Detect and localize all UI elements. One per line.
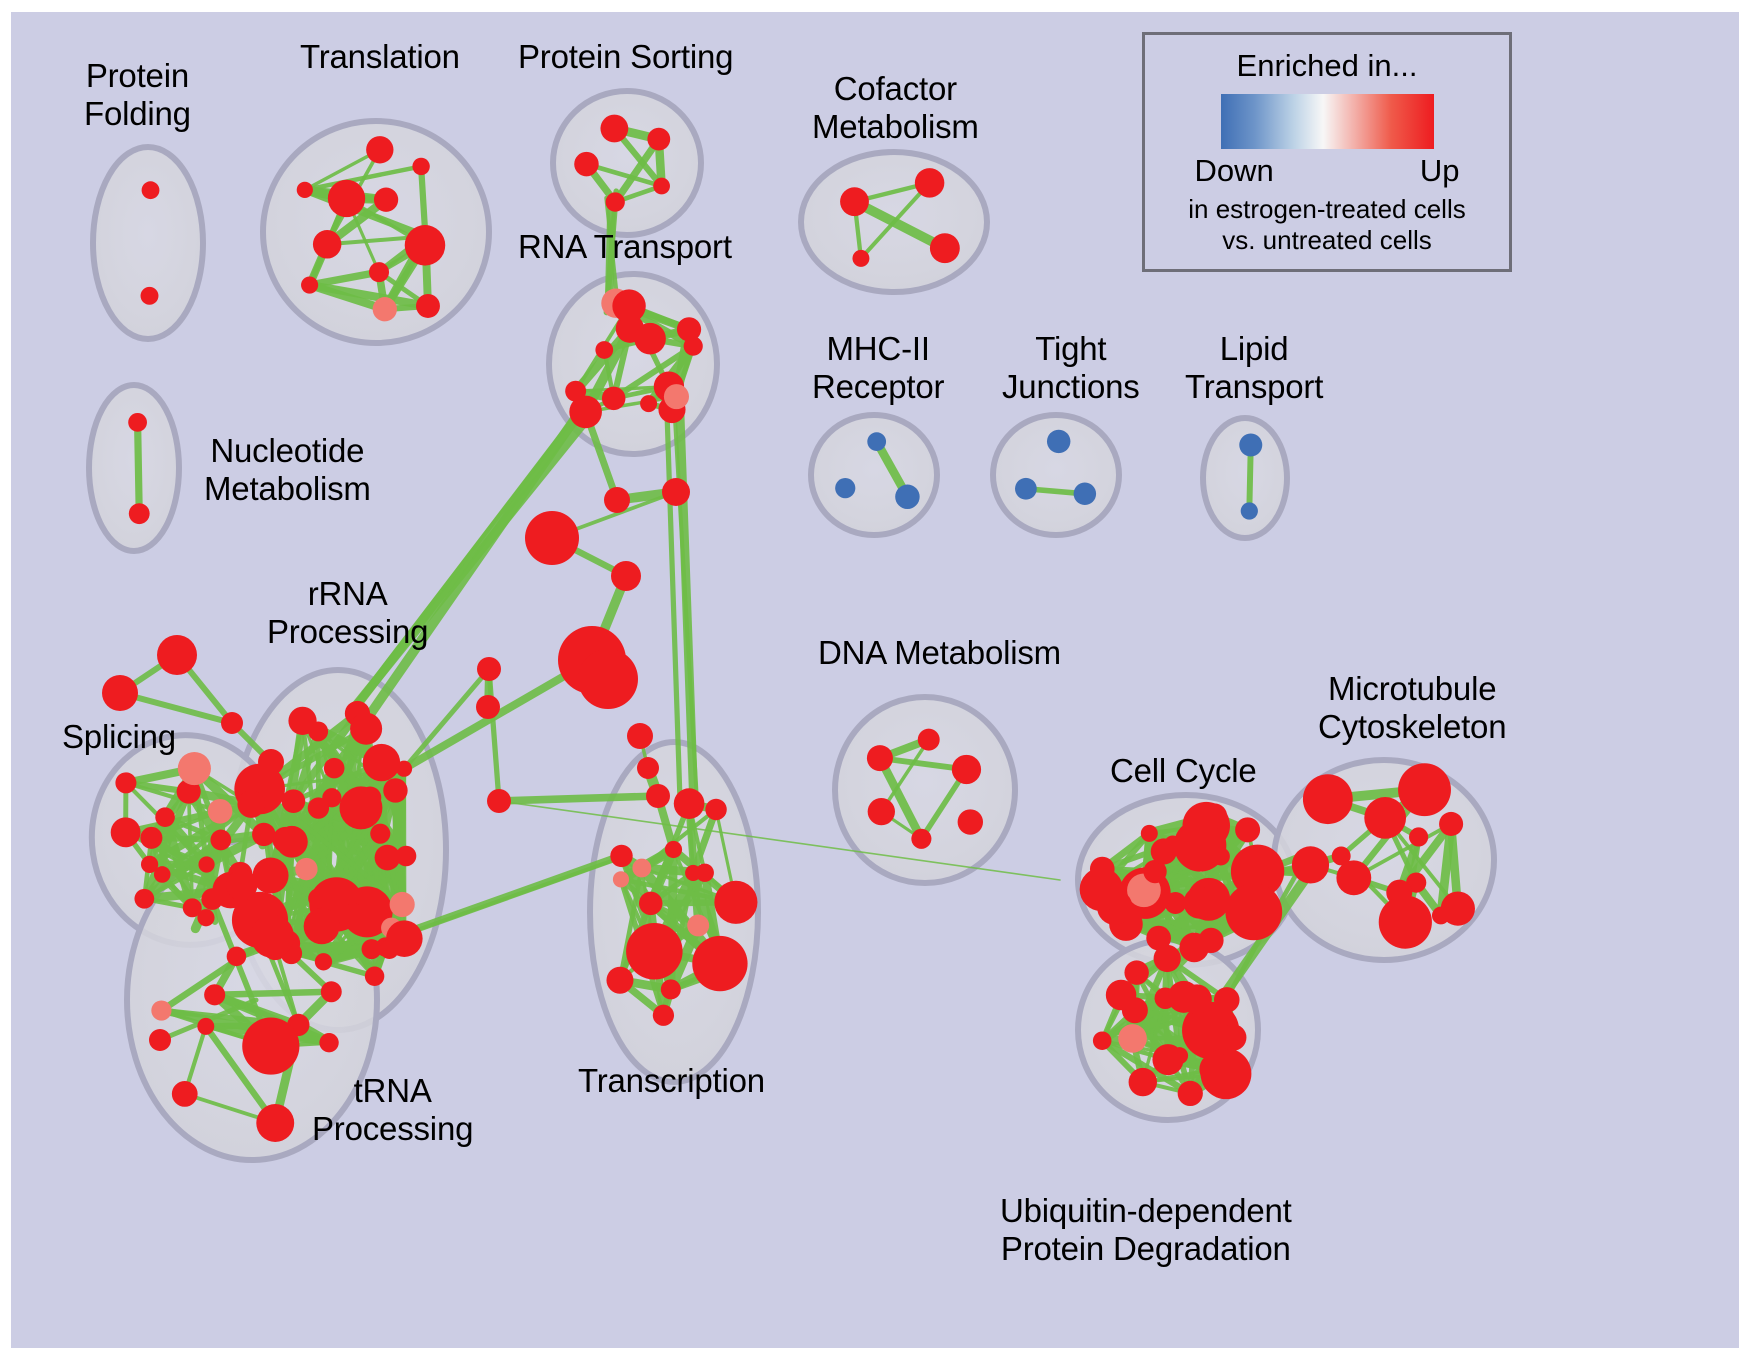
- network-node[interactable]: [308, 888, 328, 908]
- network-node[interactable]: [613, 871, 629, 887]
- cluster-label-tight-junctions: Tight Junctions: [1002, 330, 1140, 406]
- network-node[interactable]: [345, 903, 361, 919]
- network-node[interactable]: [366, 136, 393, 163]
- network-node[interactable]: [1432, 907, 1450, 925]
- network-node[interactable]: [141, 856, 158, 873]
- network-node[interactable]: [1214, 987, 1240, 1013]
- network-node[interactable]: [1364, 797, 1406, 839]
- network-node[interactable]: [412, 158, 429, 175]
- network-node[interactable]: [696, 864, 714, 882]
- network-node[interactable]: [1106, 980, 1137, 1011]
- network-node[interactable]: [226, 869, 257, 900]
- network-node[interactable]: [359, 786, 382, 809]
- network-node[interactable]: [172, 1081, 198, 1107]
- network-node[interactable]: [321, 981, 342, 1002]
- network-node[interactable]: [1129, 1068, 1157, 1096]
- network-node[interactable]: [895, 485, 919, 509]
- network-node[interactable]: [1199, 1053, 1232, 1086]
- cluster-label-transcription: Transcription: [578, 1062, 765, 1100]
- network-node[interactable]: [383, 778, 407, 802]
- network-node[interactable]: [1303, 774, 1353, 824]
- network-node[interactable]: [204, 984, 225, 1005]
- network-node[interactable]: [178, 752, 211, 785]
- network-node[interactable]: [221, 712, 243, 734]
- network-node[interactable]: [201, 888, 223, 910]
- network-node[interactable]: [183, 898, 202, 917]
- network-node[interactable]: [602, 387, 626, 411]
- legend-low-label: Down: [1195, 153, 1274, 189]
- network-edge: [499, 796, 658, 801]
- network-node[interactable]: [1154, 945, 1181, 972]
- network-node[interactable]: [258, 749, 284, 775]
- network-node[interactable]: [1047, 430, 1070, 453]
- network-node[interactable]: [304, 908, 340, 944]
- network-node[interactable]: [115, 772, 136, 793]
- network-node[interactable]: [386, 920, 423, 957]
- network-node[interactable]: [918, 729, 940, 751]
- network-node[interactable]: [142, 181, 160, 199]
- network-node[interactable]: [674, 788, 705, 819]
- network-node[interactable]: [365, 967, 384, 986]
- network-node[interactable]: [1292, 846, 1329, 883]
- network-node[interactable]: [578, 649, 638, 709]
- network-node[interactable]: [604, 487, 630, 513]
- network-node[interactable]: [835, 478, 855, 498]
- network-node[interactable]: [297, 182, 313, 198]
- network-node[interactable]: [640, 395, 657, 412]
- legend-panel: Enriched in... Down Up in estrogen-treat…: [1142, 32, 1512, 272]
- network-node[interactable]: [952, 755, 981, 784]
- network-node[interactable]: [565, 381, 586, 402]
- network-node[interactable]: [308, 721, 328, 741]
- network-node[interactable]: [646, 784, 670, 808]
- network-node[interactable]: [911, 829, 931, 849]
- cluster-label-nucleotide-metabolism: Nucleotide Metabolism: [204, 432, 371, 508]
- cluster-ellipse-protein-folding: [93, 147, 203, 339]
- cluster-label-cofactor-metabolism: Cofactor Metabolism: [812, 70, 979, 146]
- network-node[interactable]: [1182, 984, 1212, 1014]
- network-node[interactable]: [1235, 817, 1260, 842]
- network-node[interactable]: [632, 859, 651, 878]
- network-node[interactable]: [1336, 860, 1371, 895]
- network-node[interactable]: [253, 858, 289, 894]
- cluster-label-mhc-ii-receptor: MHC-II Receptor: [812, 330, 944, 406]
- network-node[interactable]: [322, 788, 341, 807]
- network-node[interactable]: [653, 178, 670, 195]
- network-node[interactable]: [610, 845, 632, 867]
- network-node[interactable]: [396, 846, 417, 867]
- network-node[interactable]: [867, 432, 886, 451]
- network-node[interactable]: [237, 790, 265, 818]
- cluster-label-dna-metabolism: DNA Metabolism: [818, 634, 1061, 672]
- network-node[interactable]: [1015, 478, 1037, 500]
- cluster-label-splicing: Splicing: [62, 718, 176, 756]
- network-node[interactable]: [1090, 857, 1115, 882]
- network-edge: [138, 422, 140, 513]
- network-node[interactable]: [665, 841, 682, 858]
- network-edge: [404, 669, 489, 769]
- cluster-label-translation: Translation: [300, 38, 460, 76]
- network-node[interactable]: [414, 225, 437, 248]
- network-node[interactable]: [714, 881, 757, 924]
- network-node[interactable]: [140, 827, 162, 849]
- network-node[interactable]: [662, 478, 690, 506]
- network-edge: [215, 992, 332, 995]
- network-node[interactable]: [1202, 803, 1227, 828]
- network-node[interactable]: [276, 826, 308, 858]
- network-node[interactable]: [1379, 896, 1432, 949]
- network-node[interactable]: [606, 967, 633, 994]
- network-node[interactable]: [157, 635, 197, 675]
- network-node[interactable]: [705, 799, 726, 820]
- network-node[interactable]: [840, 187, 869, 216]
- network-node[interactable]: [1239, 433, 1262, 456]
- network-node[interactable]: [611, 561, 641, 591]
- network-node[interactable]: [525, 511, 579, 565]
- network-node[interactable]: [1225, 883, 1282, 940]
- network-node[interactable]: [915, 168, 945, 198]
- network-node[interactable]: [958, 809, 983, 834]
- network-node[interactable]: [102, 675, 138, 711]
- network-node[interactable]: [1124, 960, 1148, 984]
- network-node[interactable]: [595, 341, 613, 359]
- network-node[interactable]: [134, 889, 154, 909]
- cluster-label-lipid-transport: Lipid Transport: [1185, 330, 1323, 406]
- network-node[interactable]: [282, 789, 306, 813]
- network-node[interactable]: [606, 192, 625, 211]
- network-node[interactable]: [149, 1029, 171, 1051]
- cluster-ellipse-dna-metabolism: [835, 697, 1015, 883]
- network-node[interactable]: [677, 317, 701, 341]
- network-node[interactable]: [1409, 827, 1428, 846]
- network-node[interactable]: [295, 858, 317, 880]
- cluster-label-protein-folding: Protein Folding: [84, 57, 191, 133]
- cluster-label-rna-transport: RNA Transport: [518, 228, 732, 266]
- network-node[interactable]: [197, 1018, 214, 1035]
- network-node[interactable]: [129, 503, 150, 524]
- cluster-label-protein-sorting: Protein Sorting: [518, 38, 733, 76]
- cluster-label-rrna-processing: rRNA Processing: [267, 575, 428, 651]
- network-node[interactable]: [151, 1000, 171, 1020]
- network-node[interactable]: [242, 1017, 299, 1074]
- legend-caption-line-1: in estrogen-treated cells: [1188, 194, 1465, 225]
- network-node[interactable]: [1093, 1031, 1112, 1050]
- network-node[interactable]: [626, 923, 683, 980]
- network-node[interactable]: [612, 289, 645, 322]
- network-node[interactable]: [363, 744, 400, 781]
- network-node[interactable]: [390, 892, 415, 917]
- network-node[interactable]: [155, 807, 175, 827]
- cluster-ellipse-nucleotide-metabolism: [89, 385, 179, 551]
- network-node[interactable]: [369, 262, 389, 282]
- network-node[interactable]: [416, 294, 440, 318]
- cluster-label-cell-cycle: Cell Cycle: [1110, 752, 1257, 790]
- network-node[interactable]: [647, 128, 670, 151]
- network-node[interactable]: [319, 1033, 338, 1052]
- network-node[interactable]: [574, 152, 598, 176]
- network-node[interactable]: [111, 817, 141, 847]
- network-node[interactable]: [324, 758, 345, 779]
- network-node[interactable]: [1178, 1081, 1203, 1106]
- legend-color-bar: [1221, 94, 1434, 149]
- network-node[interactable]: [930, 233, 960, 263]
- network-node[interactable]: [687, 915, 709, 937]
- network-node[interactable]: [374, 188, 398, 212]
- network-node[interactable]: [328, 180, 365, 217]
- network-node[interactable]: [252, 823, 275, 846]
- network-node[interactable]: [208, 799, 233, 824]
- network-node[interactable]: [634, 323, 666, 355]
- network-node[interactable]: [1141, 825, 1158, 842]
- network-node[interactable]: [1198, 928, 1223, 953]
- network-node[interactable]: [256, 1104, 294, 1142]
- cluster-label-ubiquitin-protein-degradation: Ubiquitin-dependent Protein Degradation: [1000, 1192, 1292, 1268]
- network-node[interactable]: [198, 856, 214, 872]
- network-node[interactable]: [1212, 847, 1230, 865]
- network-node[interactable]: [600, 115, 628, 143]
- network-node[interactable]: [1220, 1024, 1247, 1051]
- legend-high-label: Up: [1420, 153, 1460, 189]
- network-node[interactable]: [664, 384, 689, 409]
- network-node[interactable]: [1439, 812, 1463, 836]
- network-node[interactable]: [653, 1005, 674, 1026]
- network-node[interactable]: [1118, 1024, 1147, 1053]
- network-node[interactable]: [370, 824, 390, 844]
- network-node[interactable]: [1332, 846, 1351, 865]
- network-node[interactable]: [867, 745, 893, 771]
- network-node[interactable]: [315, 953, 332, 970]
- network-node[interactable]: [1184, 887, 1216, 919]
- network-node[interactable]: [227, 947, 247, 967]
- network-node[interactable]: [313, 230, 341, 258]
- network-node[interactable]: [1398, 763, 1451, 816]
- network-node[interactable]: [1152, 1044, 1183, 1075]
- network-node[interactable]: [487, 789, 511, 813]
- network-node[interactable]: [362, 939, 382, 959]
- cluster-label-microtubule-cytoskeleton: Microtubule Cytoskeleton: [1318, 670, 1506, 746]
- network-node[interactable]: [639, 892, 663, 916]
- network-node[interactable]: [210, 830, 231, 851]
- network-node[interactable]: [373, 297, 397, 321]
- network-node[interactable]: [1074, 483, 1096, 505]
- network-node[interactable]: [301, 276, 318, 293]
- network-node[interactable]: [350, 713, 382, 745]
- network-node[interactable]: [661, 979, 681, 999]
- network-node[interactable]: [627, 723, 653, 749]
- cluster-label-trna-processing: tRNA Processing: [312, 1072, 473, 1148]
- network-node[interactable]: [1241, 502, 1258, 519]
- network-node[interactable]: [251, 915, 294, 958]
- network-node[interactable]: [692, 936, 747, 991]
- enrichment-map-figure: Protein Folding Translation Protein Sort…: [0, 0, 1750, 1360]
- legend-title: Enriched in...: [1237, 48, 1418, 84]
- legend-caption-line-2: vs. untreated cells: [1188, 225, 1465, 256]
- network-node[interactable]: [476, 695, 500, 719]
- network-node[interactable]: [637, 757, 659, 779]
- network-node[interactable]: [141, 287, 159, 305]
- network-node[interactable]: [128, 413, 147, 432]
- network-node[interactable]: [477, 657, 501, 681]
- network-node[interactable]: [868, 798, 895, 825]
- network-node[interactable]: [852, 250, 869, 267]
